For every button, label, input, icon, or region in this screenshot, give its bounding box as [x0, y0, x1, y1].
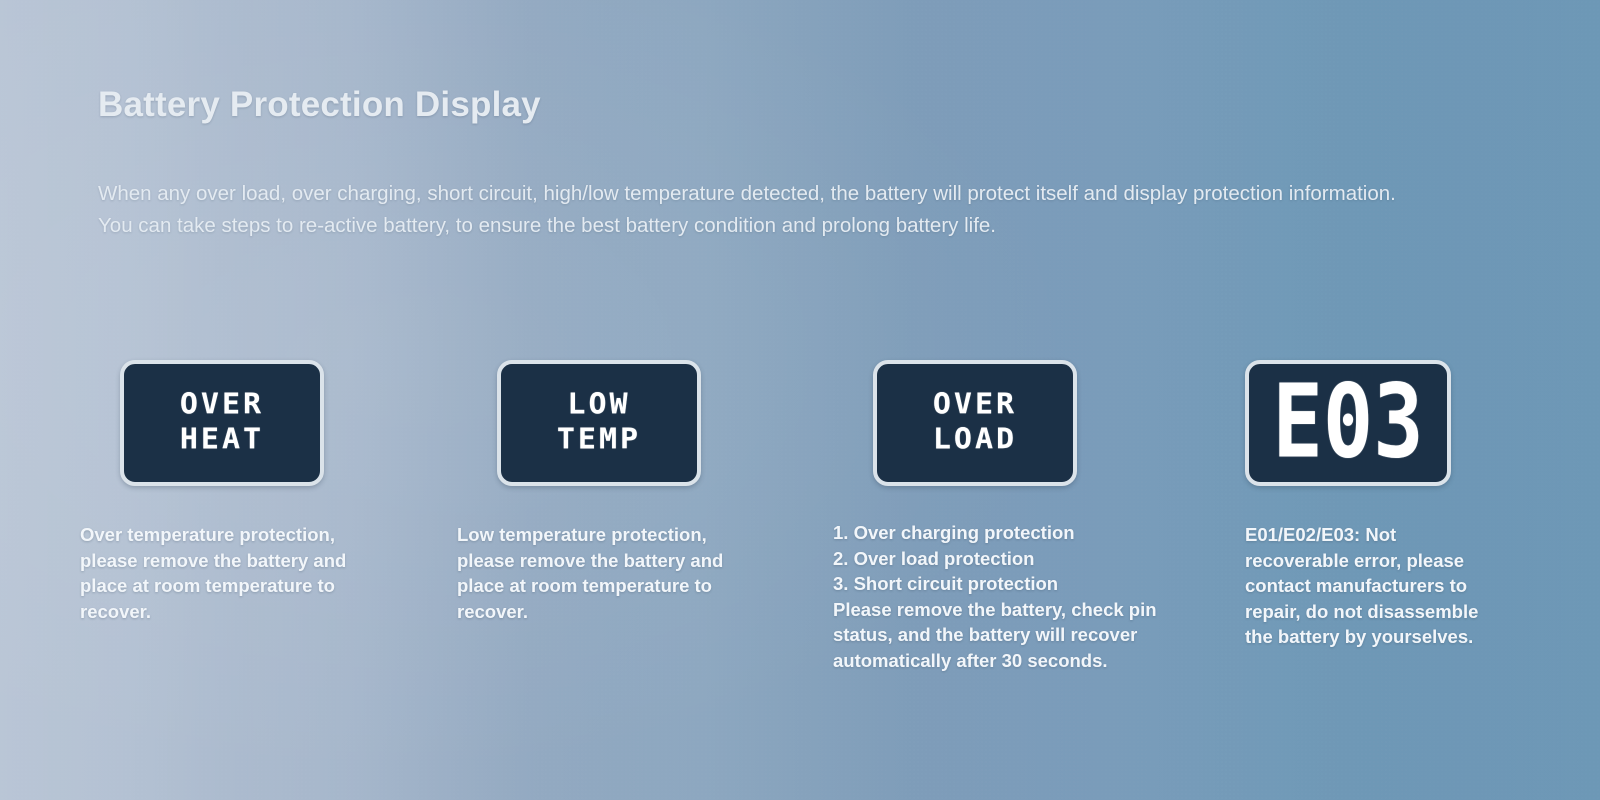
protection-cards-row: OVERHEATOver temperature protection,plea…: [0, 360, 1600, 700]
caption-line: recover.: [457, 599, 757, 625]
lcd-display-error-e03: E03: [1245, 360, 1451, 486]
caption-line: repair, do not disassemble: [1245, 599, 1507, 625]
card-caption-over-heat: Over temperature protection,please remov…: [80, 522, 380, 624]
protection-card-low-temp: LOWTEMPLow temperature protection,please…: [457, 360, 827, 624]
caption-line: contact manufacturers to: [1245, 573, 1507, 599]
protection-card-over-load: OVERLOAD1. Over charging protection2. Ov…: [833, 360, 1213, 674]
page-title: Battery Protection Display: [98, 85, 541, 125]
caption-line: automatically after 30 seconds.: [833, 648, 1193, 674]
lcd-display-over-heat: OVERHEAT: [120, 360, 324, 486]
lcd-display-over-load: OVERLOAD: [873, 360, 1077, 486]
caption-line: 3. Short circuit protection: [833, 571, 1193, 597]
caption-line: 1. Over charging protection: [833, 520, 1193, 546]
lcd-text-line: OVER: [933, 391, 1017, 420]
protection-card-over-heat: OVERHEATOver temperature protection,plea…: [80, 360, 450, 624]
protection-card-error-e03: E03E01/E02/E03: Notrecoverable error, pl…: [1245, 360, 1545, 650]
caption-line: Low temperature protection,: [457, 522, 757, 548]
lcd-text-line: LOW: [567, 391, 630, 420]
lcd-text-line: TEMP: [557, 426, 641, 455]
caption-line: place at room temperature to: [80, 573, 380, 599]
intro-paragraph: When any over load, over charging, short…: [98, 178, 1418, 242]
lcd-text-line: E03: [1272, 372, 1423, 474]
card-caption-error-e03: E01/E02/E03: Notrecoverable error, pleas…: [1245, 522, 1507, 650]
caption-line: recoverable error, please: [1245, 548, 1507, 574]
caption-line: status, and the battery will recover: [833, 622, 1193, 648]
caption-line: 2. Over load protection: [833, 546, 1193, 572]
caption-line: recover.: [80, 599, 380, 625]
lcd-text-line: LOAD: [933, 426, 1017, 455]
caption-line: Over temperature protection,: [80, 522, 380, 548]
lcd-text-line: OVER: [180, 391, 264, 420]
lcd-text-line: HEAT: [180, 426, 264, 455]
caption-line: please remove the battery and: [80, 548, 380, 574]
caption-line: the battery by yourselves.: [1245, 624, 1507, 650]
lcd-display-low-temp: LOWTEMP: [497, 360, 701, 486]
caption-line: place at room temperature to: [457, 573, 757, 599]
card-caption-over-load: 1. Over charging protection2. Over load …: [833, 520, 1193, 674]
caption-line: Please remove the battery, check pin: [833, 597, 1193, 623]
caption-line: please remove the battery and: [457, 548, 757, 574]
card-caption-low-temp: Low temperature protection,please remove…: [457, 522, 757, 624]
caption-line: E01/E02/E03: Not: [1245, 522, 1507, 548]
